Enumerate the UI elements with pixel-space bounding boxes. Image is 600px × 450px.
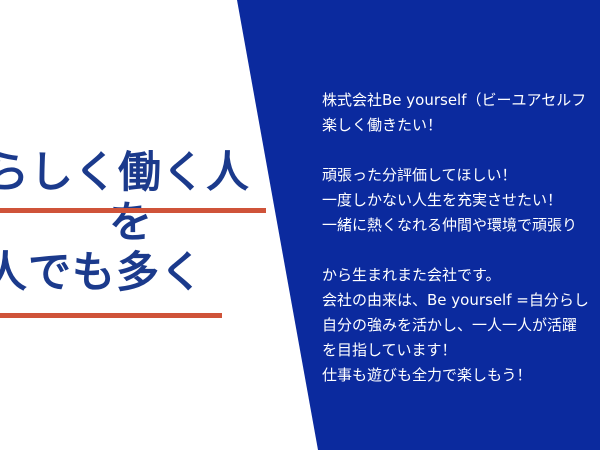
body-copy-line: 会社の由来は、Be yourself =自分らし xyxy=(322,288,600,313)
body-copy-line: から生まれまた会社です。 xyxy=(322,263,600,288)
body-copy-line xyxy=(322,138,600,163)
body-copy-block: 株式会社Be yourself（ビーユアセルフ 楽しく働きたい！ 頑張った分評価… xyxy=(322,88,600,388)
body-copy-line: 株式会社Be yourself（ビーユアセルフ xyxy=(322,88,600,113)
headline-underline-top xyxy=(0,208,266,213)
headline-line-3: 人でも多く xyxy=(0,248,290,298)
body-copy-line xyxy=(322,238,600,263)
body-copy-line: 楽しく働きたい！ xyxy=(322,113,600,138)
headline-line-2: を xyxy=(0,198,262,248)
headline-block: らしく働く人 を 人でも多く xyxy=(0,148,290,298)
body-copy-line: を目指しています！ xyxy=(322,338,600,363)
headline-line-1: らしく働く人 xyxy=(0,148,290,198)
body-copy-line: 仕事も遊びも全力で楽しもう！ xyxy=(322,363,600,388)
body-copy-line: 自分の強みを活かし、一人一人が活躍 xyxy=(322,313,600,338)
body-copy-line: 一緒に熱くなれる仲間や環境で頑張り xyxy=(322,213,600,238)
body-copy-line: 頑張った分評価してほしい！ xyxy=(322,163,600,188)
headline-underline-bottom xyxy=(0,313,222,318)
slide-canvas: らしく働く人 を 人でも多く 株式会社Be yourself（ビーユアセルフ 楽… xyxy=(0,0,600,450)
body-copy-line: 一度しかない人生を充実させたい！ xyxy=(322,188,600,213)
